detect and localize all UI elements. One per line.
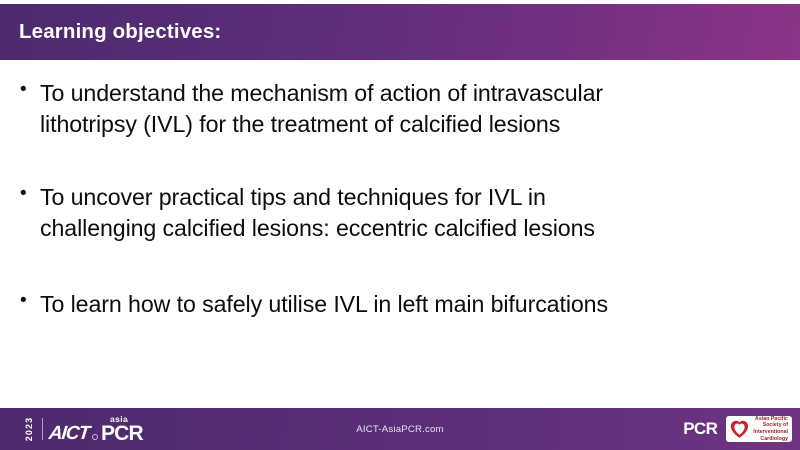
slide-root: Learning objectives: To understand the m…	[0, 0, 800, 450]
society-name-label: Asian Pacific Society of Interventional …	[753, 416, 788, 443]
footer-brand-right: PCR Asian Pacific Society of Interventio…	[683, 408, 792, 450]
footer-website-url: AICT-AsiaPCR.com	[0, 408, 800, 450]
list-item: To understand the mechanism of action of…	[18, 78, 786, 140]
list-item: To learn how to safely utilise IVL in le…	[18, 289, 786, 320]
list-item: To uncover practical tips and techniques…	[18, 182, 786, 244]
slide-header-bar: Learning objectives:	[0, 4, 800, 60]
slide-footer-bar: 2023 AICT asia PCR AICT-AsiaPCR.com PCR …	[0, 408, 800, 450]
page-title: Learning objectives:	[19, 20, 221, 44]
heart-icon	[729, 419, 750, 439]
pcr-badge-label: PCR	[683, 419, 717, 439]
slide-body: To understand the mechanism of action of…	[0, 60, 800, 408]
learning-objectives-list: To understand the mechanism of action of…	[18, 78, 786, 320]
apsic-society-logo: Asian Pacific Society of Interventional …	[726, 416, 792, 442]
